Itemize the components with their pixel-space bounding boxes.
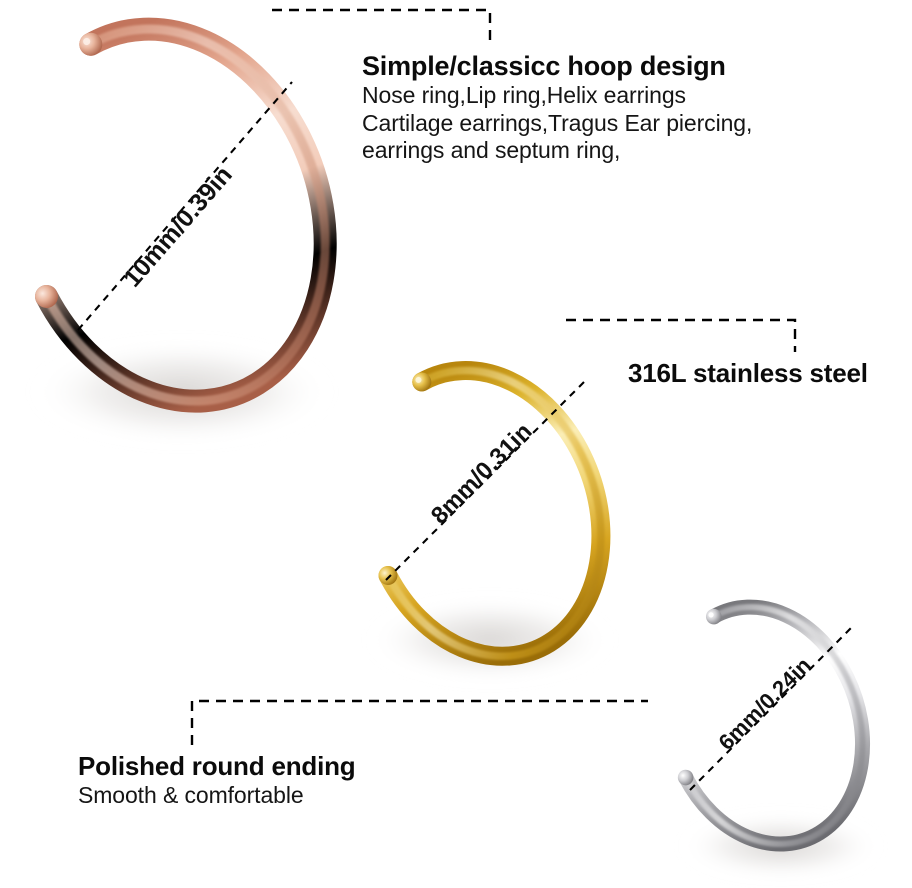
callout-design: Simple/classicc hoop design Nose ring,Li…	[362, 50, 752, 165]
gold-ring-size-label: 8mm/0.31in	[426, 418, 538, 530]
callout-steel-heading: 316L stainless steel	[628, 357, 868, 389]
callout-steel: 316L stainless steel	[628, 357, 868, 389]
leader-line-design	[272, 10, 490, 46]
callout-polish: Polished round ending Smooth & comfortab…	[78, 750, 355, 810]
callout-polish-heading: Polished round ending	[78, 750, 355, 782]
leader-line-polish	[192, 701, 648, 745]
gold-ring: 8mm/0.31in	[320, 331, 638, 691]
callout-design-heading: Simple/classicc hoop design	[362, 50, 752, 82]
silver-ring: 6mm/0.24in	[629, 574, 893, 878]
callout-design-line-2: Cartilage earrings,Tragus Ear piercing,	[362, 110, 752, 138]
callout-design-line-1: Nose ring,Lip ring,Helix earrings	[362, 82, 752, 110]
infographic-canvas: 10mm/0.39in 8mm/0.31in	[0, 0, 912, 888]
silver-ring-size-label: 6mm/0.24in	[713, 652, 815, 754]
rose-gold-ring-size-label: 10mm/0.39in	[118, 161, 238, 293]
leader-line-steel	[566, 320, 795, 352]
rose-gold-ring: 10mm/0.39in	[0, 0, 374, 446]
callout-polish-line-1: Smooth & comfortable	[78, 782, 355, 810]
callout-design-line-3: earrings and septum ring,	[362, 137, 752, 165]
